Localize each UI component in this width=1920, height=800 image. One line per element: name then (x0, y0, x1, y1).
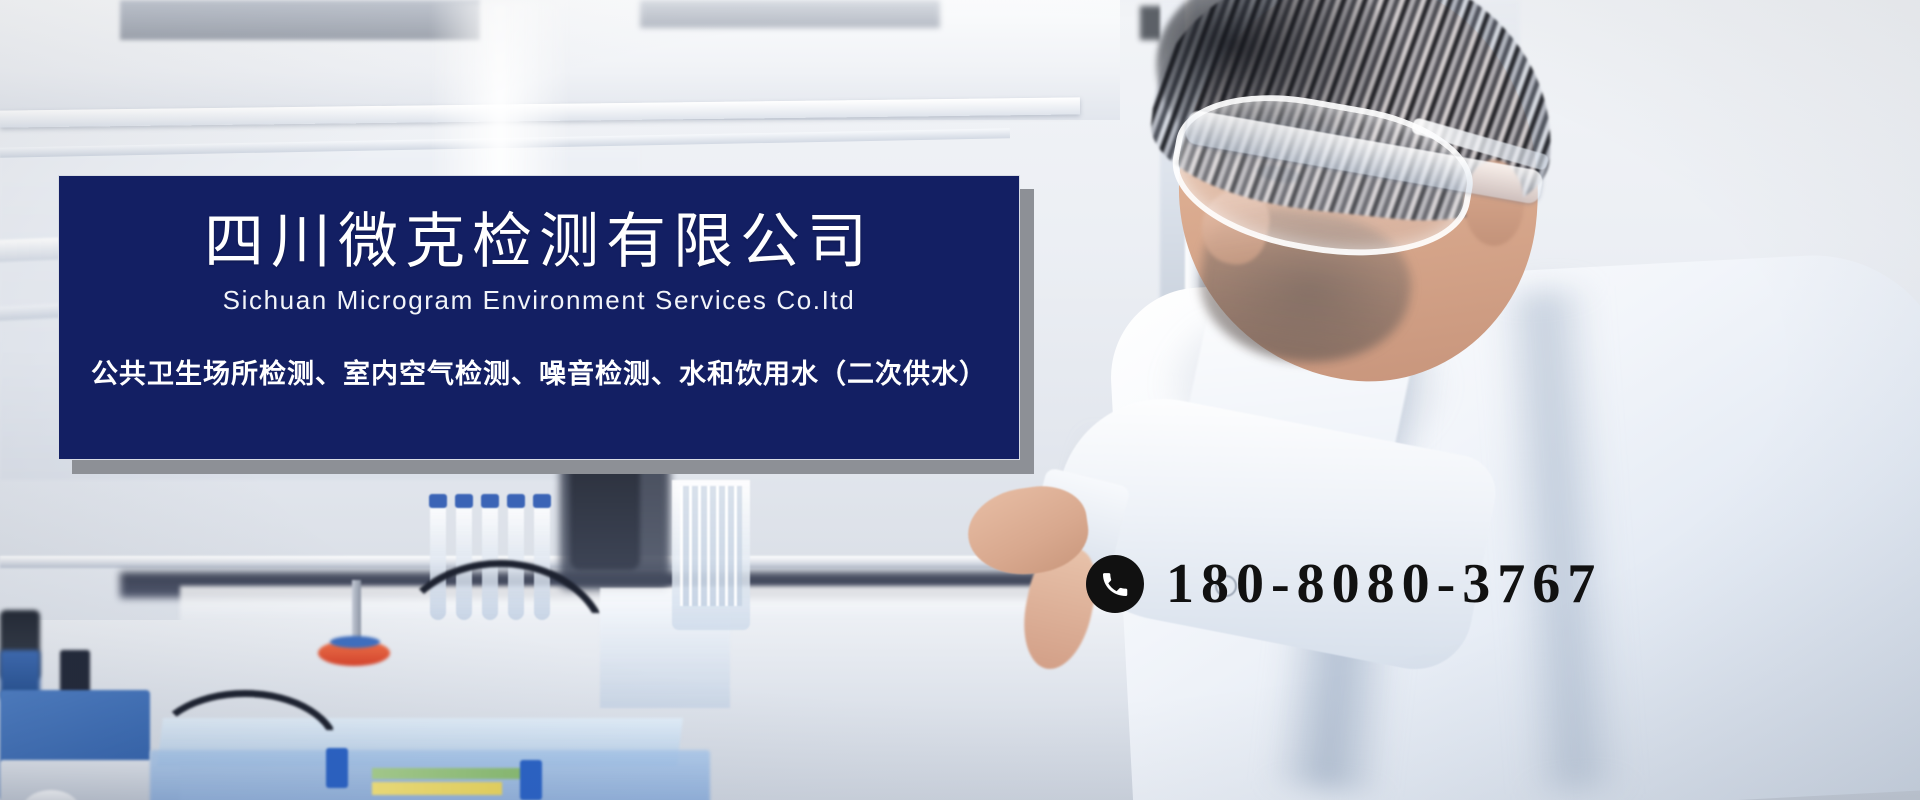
contact-phone-block[interactable]: 180-8080-3767 (1086, 552, 1602, 616)
banner-stage: 四川微克检测有限公司 Sichuan Microgram Environment… (0, 0, 1920, 800)
scientist-figure (1060, 0, 1920, 800)
sample-strip-green (372, 768, 522, 779)
phone-icon[interactable] (1086, 555, 1144, 613)
company-name-english: Sichuan Microgram Environment Services C… (223, 285, 856, 316)
sample-strip-yellow (372, 782, 502, 795)
services-tagline: 公共卫生场所检测、室内空气检测、噪音检测、水和饮用水（二次供水） (91, 352, 987, 391)
phone-number-text[interactable]: 180-8080-3767 (1166, 552, 1602, 616)
equipment-burner-ring (330, 636, 380, 648)
tray-clip-right (520, 760, 542, 800)
glass-beaker-highlight (680, 486, 742, 606)
tray-clip-left (326, 748, 348, 788)
background-shelf-dark-left (120, 0, 480, 40)
background-shelf-dark-mid (640, 0, 940, 28)
company-headline-panel: 四川微克检测有限公司 Sichuan Microgram Environment… (58, 175, 1020, 460)
company-name-chinese: 四川微克检测有限公司 (204, 210, 874, 273)
